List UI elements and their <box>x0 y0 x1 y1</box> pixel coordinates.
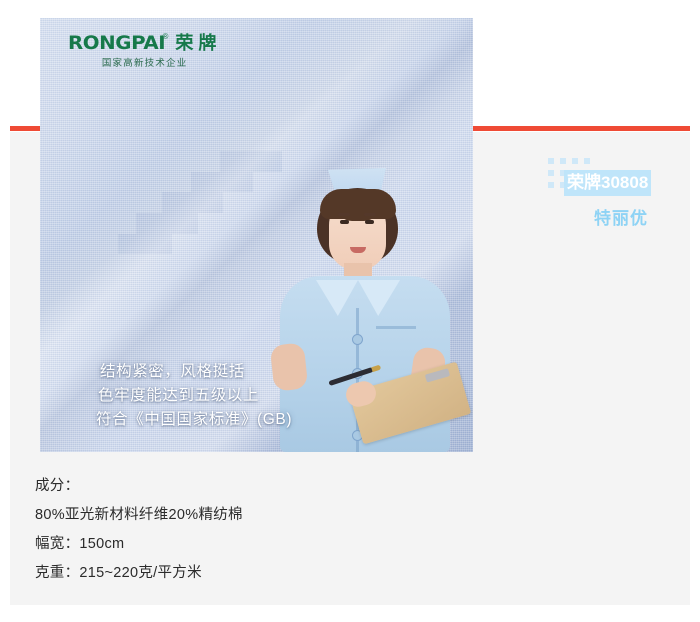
spec-weight: 克重：215~220克/平方米 <box>35 559 243 588</box>
product-model-badge: 荣牌30808 <box>564 170 651 196</box>
hair-fringe <box>320 189 396 219</box>
brand-logo-row: RONGPAI ® 荣牌 <box>68 34 221 53</box>
brand-name-cn: 荣牌 <box>175 34 221 52</box>
eye-right <box>365 220 374 224</box>
specification-list: 成分： 80%亚光新材料纤维20%精纺棉 幅宽：150cm 克重：215~220… <box>35 472 243 588</box>
product-detail-page: RONGPAI ® 荣牌 国家高新技术企业 结构紧密，风格挺括 色牢度能达到五级… <box>0 0 700 622</box>
eye-left <box>340 220 349 224</box>
spec-composition-value: 80%亚光新材料纤维20%精纺棉 <box>35 501 243 530</box>
eyebrow-left <box>338 213 350 216</box>
feature-callout: 结构紧密，风格挺括 色牢度能达到五级以上 符合《中国国家标准》(GB) <box>100 360 292 432</box>
uniform-pocket <box>376 326 416 329</box>
brand-wordmark: RONGPAI <box>68 34 165 53</box>
brand-logo: RONGPAI ® 荣牌 国家高新技术企业 <box>68 34 221 69</box>
product-photo: RONGPAI ® 荣牌 国家高新技术企业 结构紧密，风格挺括 色牢度能达到五级… <box>40 18 473 452</box>
eyebrow-right <box>364 213 376 216</box>
brand-tagline: 国家高新技术企业 <box>68 59 221 69</box>
product-sub-brand: 特丽优 <box>594 210 648 227</box>
spec-composition-label: 成分： <box>35 472 243 501</box>
feature-line-2: 色牢度能达到五级以上 <box>100 384 292 408</box>
uniform-button <box>352 334 363 345</box>
feature-line-1: 结构紧密，风格挺括 <box>100 360 292 384</box>
clipboard-clip <box>425 368 450 382</box>
spec-width: 幅宽：150cm <box>35 530 243 559</box>
feature-line-3: 符合《中国国家标准》(GB) <box>100 408 292 432</box>
